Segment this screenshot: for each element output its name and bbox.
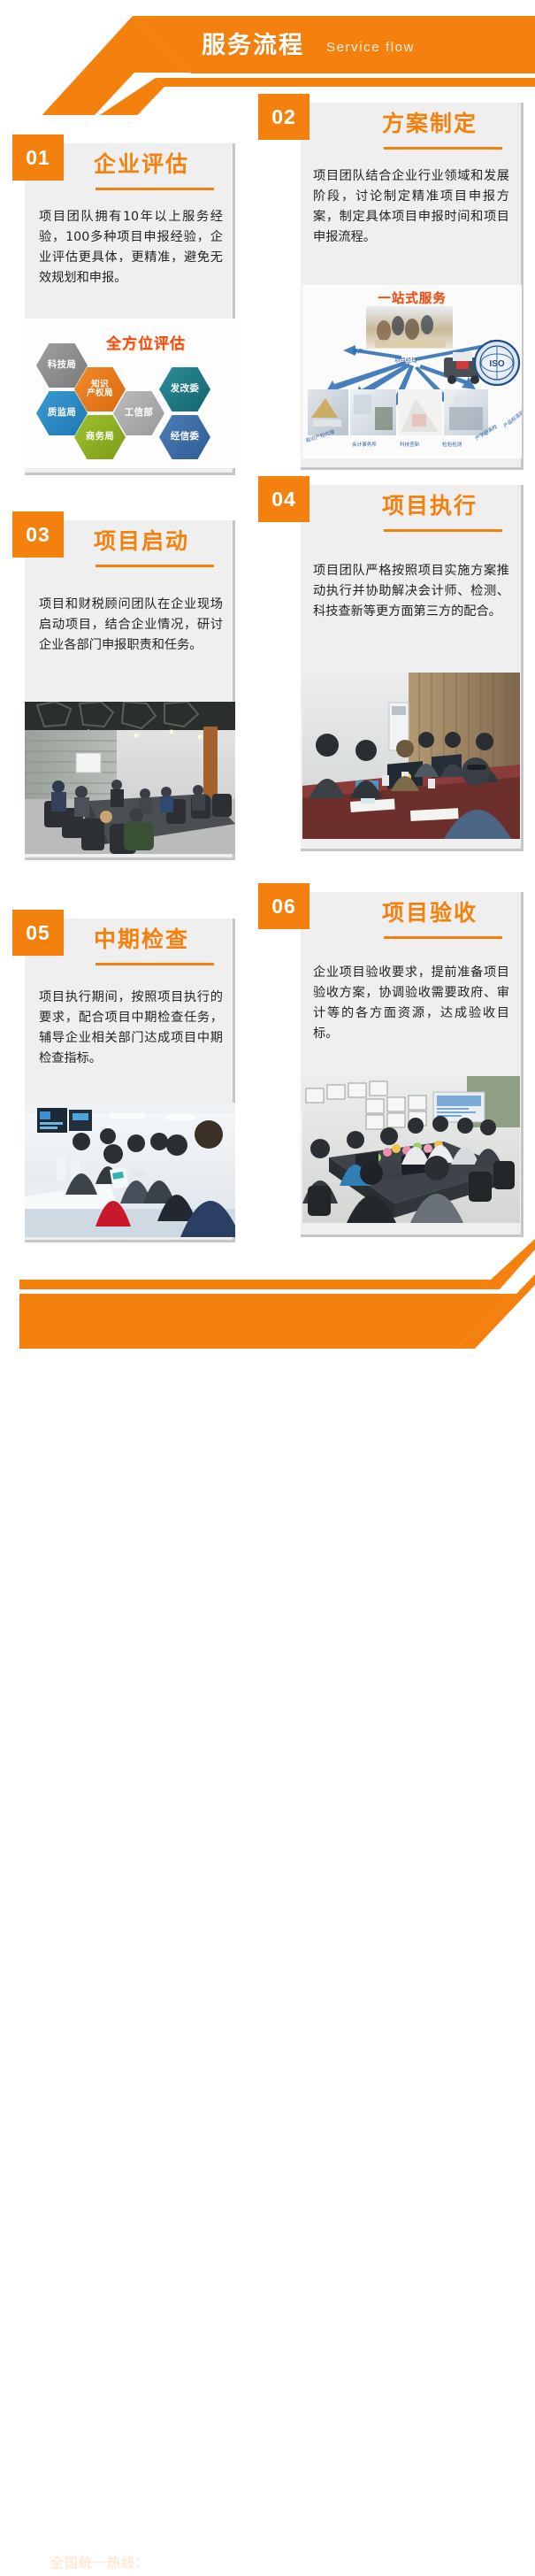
- card-03[interactable]: 03 项目启动 项目和财税顾问团队在企业现场启动项目，结合企业情况，研讨企业各部…: [12, 511, 235, 860]
- hexagon-chart-title: 全方位评估: [106, 331, 186, 353]
- oss-leaf-1: 会计事务所: [352, 441, 377, 448]
- card-06[interactable]: 06 项目验收 企业项目验收要求，提前准备项目验收方案，协调验收需要政府、审计等…: [258, 883, 524, 1237]
- card-06-title-rule: [384, 936, 502, 939]
- photo-meeting-laptops-art: [302, 673, 520, 839]
- card-02-title: 方案制定: [382, 113, 478, 135]
- oss-leaf-2: 科技查新: [400, 441, 419, 448]
- card-04-badge: 04: [258, 476, 310, 522]
- photo-conference-room: [25, 702, 235, 854]
- card-05-title-rule: [96, 963, 214, 965]
- hex-node-4: 工信部: [113, 391, 164, 435]
- hex-node-6-label: 经信委: [171, 432, 199, 442]
- card-05-title: 中期检查: [94, 929, 189, 951]
- hex-node-0-label: 科技局: [48, 360, 76, 370]
- card-06-title: 项目验收: [382, 903, 478, 925]
- photo-conference-room-art: [25, 702, 235, 854]
- one-stop-service-diagram: 一站式服务: [302, 285, 522, 458]
- header-title: 服务流程: [202, 34, 304, 58]
- card-05-description: 项目执行期间，按照项目执行的要求，配合项目中期检查任务，辅导企业相关部门达成项目…: [39, 988, 223, 1069]
- header-subtitle: Service flow: [326, 41, 415, 54]
- card-04[interactable]: 04 项目执行 项目团队严格按照项目实施方案推动执行并协助解决会计师、检测、科技…: [258, 476, 524, 851]
- hex-node-2-label: 发改委: [171, 384, 199, 394]
- card-01[interactable]: 01 企业评估 项目团队拥有10年以上服务经验，100多种项目申报经验，企业评估…: [12, 135, 235, 475]
- oss-node-customer: 客户: [352, 347, 363, 355]
- card-04-description: 项目团队严格按照项目实施方案推动执行并协助解决会计师、检测、科技查新等更方面第三…: [313, 561, 509, 622]
- card-01-description: 项目团队拥有10年以上服务经验，100多种项目申报经验，企业评估更具体，更精准，…: [39, 207, 223, 288]
- hex-node-2: 发改委: [159, 367, 210, 411]
- card-03-badge: 03: [12, 511, 64, 557]
- photo-site-visit: [25, 1103, 235, 1237]
- photo-meeting-laptops: [302, 673, 520, 839]
- hex-node-4-label: 工信部: [125, 408, 153, 418]
- footer-hotline-number[interactable]: 400-150-1560: [163, 2551, 317, 2575]
- card-03-title: 项目启动: [94, 531, 189, 553]
- card-02-badge: 02: [258, 94, 310, 140]
- card-03-title-rule: [96, 565, 214, 567]
- hex-node-5-label: 商务局: [86, 432, 114, 442]
- card-03-description: 项目和财税顾问团队在企业现场启动项目，结合企业情况，研讨企业各部门申报职责和任务…: [39, 595, 223, 656]
- hex-node-3-label: 质监局: [48, 408, 76, 418]
- footer-banner: 全国统一热线： 400-150-1560: [0, 1239, 535, 1361]
- photo-acceptance-meeting-art: [302, 1076, 520, 1223]
- card-01-title: 企业评估: [94, 154, 189, 176]
- svg-text:ISO: ISO: [489, 359, 504, 369]
- footer-chevron-shape: [0, 1239, 535, 1361]
- card-05[interactable]: 05 中期检查 项目执行期间，按照项目执行的要求，配合项目中期检查任务，辅导企业…: [12, 910, 235, 1242]
- hex-node-6: 经信委: [159, 415, 210, 459]
- card-02[interactable]: 02 方案制定 项目团队结合企业行业领域和发展阶段，讨论制定精准项目申报方案，制…: [258, 94, 524, 470]
- service-flow-infographic: 服务流程 Service flow 01 企业评估 项目团队拥有10年以上服务经…: [0, 0, 535, 1361]
- card-01-badge: 01: [12, 135, 64, 181]
- card-06-badge: 06: [258, 883, 310, 929]
- footer-hotline-label: 全国统一热线：: [50, 2557, 149, 2570]
- card-02-title-rule: [384, 147, 502, 150]
- hex-node-1-label: 知识 产权局: [87, 381, 113, 399]
- photo-site-visit-art: [25, 1103, 235, 1237]
- hexagon-chart: 全方位评估 科技局 质监局 知识 产权局 商务局 工信部 发改委 经信委: [25, 319, 235, 468]
- card-04-title: 项目执行: [382, 496, 478, 518]
- oss-node-manager: 项目经理: [394, 356, 417, 364]
- photo-acceptance-meeting: [302, 1076, 520, 1223]
- card-05-badge: 05: [12, 910, 64, 956]
- card-02-description: 项目团队结合企业行业领域和发展阶段，讨论制定精准项目申报方案，制定具体项目申报时…: [313, 166, 509, 248]
- card-01-title-rule: [96, 188, 214, 190]
- card-04-title-rule: [384, 529, 502, 532]
- oss-leaf-3: 检验检测: [442, 441, 462, 448]
- card-06-description: 企业项目验收要求，提前准备项目验收方案，协调验收需要政府、审计等的各方面资源，达…: [313, 963, 509, 1044]
